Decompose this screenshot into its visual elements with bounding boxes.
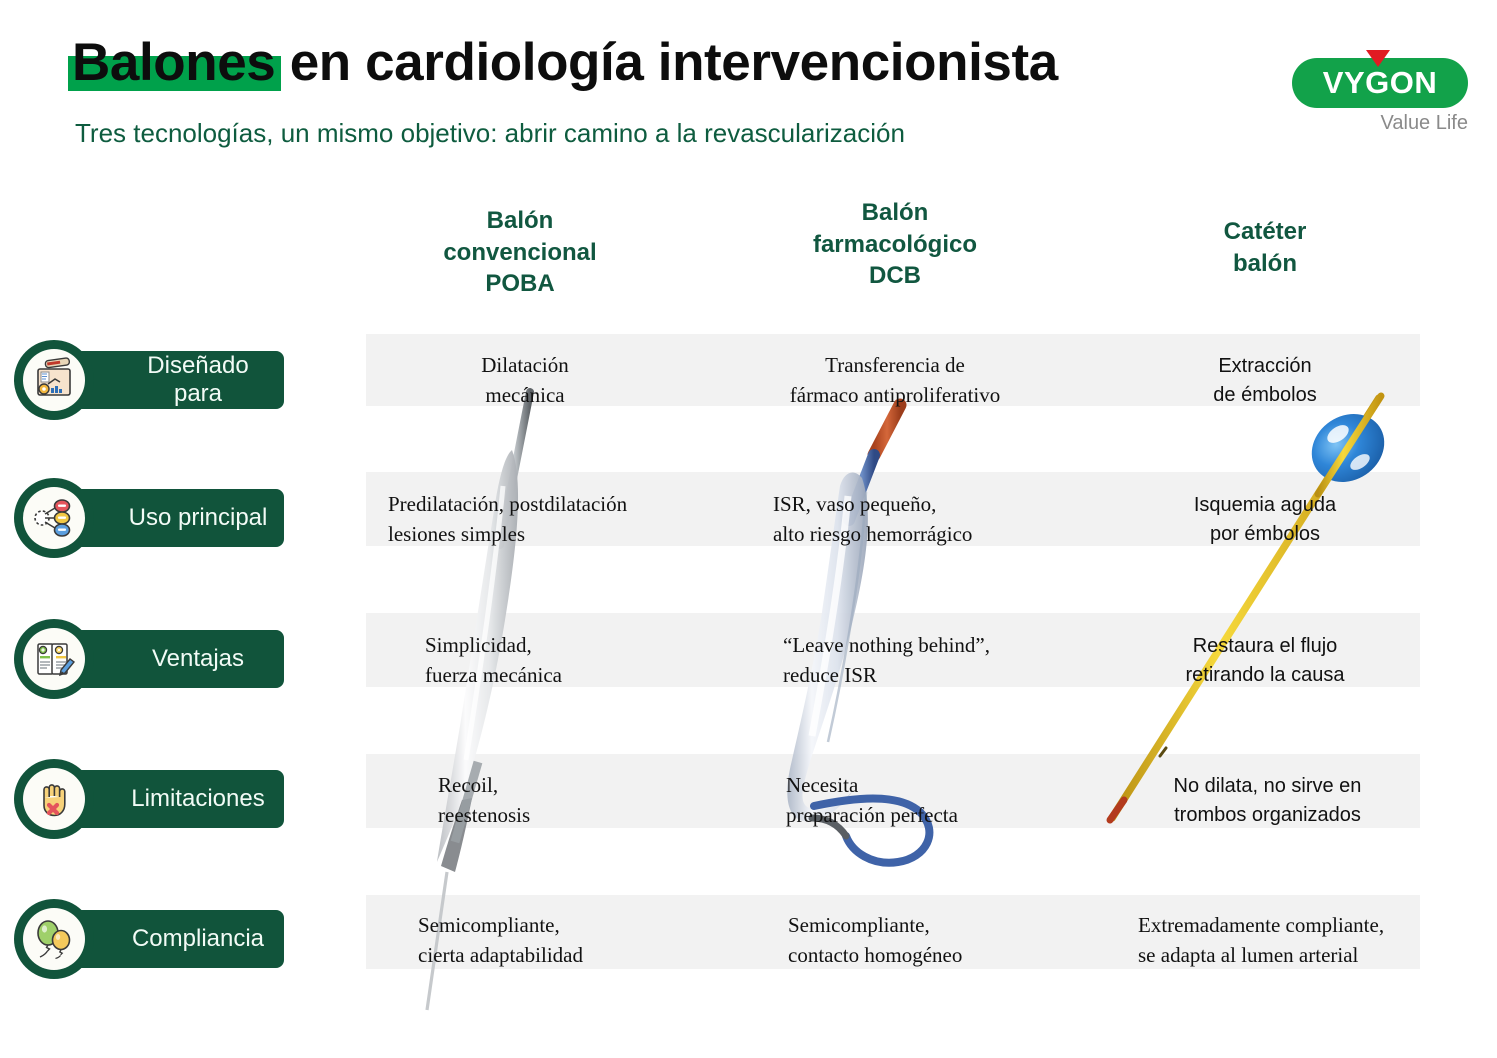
cell-line-2: trombos organizados bbox=[1125, 801, 1410, 830]
cell-line-1: Semicompliante, bbox=[788, 910, 1088, 940]
cell-line-1: Dilatación bbox=[400, 350, 650, 380]
cell-line-1: ISR, vaso pequeño, bbox=[773, 489, 1073, 519]
row-label-text: Limitaciones bbox=[122, 785, 274, 813]
checklist-pencil-icon bbox=[31, 636, 77, 682]
cell-line-2: preparación perfecta bbox=[786, 800, 1086, 830]
column-header-poba: Balón convencional POBA bbox=[400, 205, 640, 300]
balloons-icon bbox=[31, 916, 77, 962]
cell-line-2: por émbolos bbox=[1135, 520, 1395, 549]
cell-r4-c2: Extremadamente compliante, se adapta al … bbox=[1138, 910, 1428, 971]
row-icon-badge bbox=[14, 759, 94, 839]
row-label-text: Compliancia bbox=[122, 925, 274, 953]
cell-r1-c1: ISR, vaso pequeño, alto riesgo hemorrági… bbox=[773, 489, 1073, 550]
cell-r0-c0: Dilatación mecánica bbox=[400, 350, 650, 411]
row-label-ventajas[interactable]: Ventajas bbox=[36, 630, 284, 688]
row-icon-badge bbox=[14, 899, 94, 979]
cell-line-2: de émbolos bbox=[1135, 381, 1395, 410]
cell-r0-c1: Transferencia de fármaco antiproliferati… bbox=[745, 350, 1045, 411]
cell-line-2: cierta adaptabilidad bbox=[418, 940, 698, 970]
column-header-line2: convencional bbox=[400, 237, 640, 269]
logo-brand-text: VYGON bbox=[1292, 58, 1468, 108]
row-label-text: Ventajas bbox=[122, 645, 274, 673]
cell-r4-c1: Semicompliante, contacto homogéneo bbox=[788, 910, 1088, 971]
cell-line-2: reestenosis bbox=[438, 800, 688, 830]
cell-r3-c1: Necesita preparación perfecta bbox=[786, 770, 1086, 831]
row-label-disenado-para[interactable]: Diseñado para bbox=[36, 351, 284, 409]
column-header-line3: DCB bbox=[760, 260, 1030, 292]
cell-r0-c2: Extracción de émbolos bbox=[1135, 352, 1395, 410]
page-title: Balones en cardiología intervencionista bbox=[72, 34, 1058, 91]
cell-line-2: alto riesgo hemorrágico bbox=[773, 519, 1073, 549]
cell-r1-c0: Predilatación, postdilatación lesiones s… bbox=[388, 489, 678, 550]
cell-line-2: fármaco antiproliferativo bbox=[745, 380, 1045, 410]
cell-line-2: lesiones simples bbox=[388, 519, 678, 549]
row-label-limitaciones[interactable]: Limitaciones bbox=[36, 770, 284, 828]
infographic-page: Balones en cardiología intervencionista … bbox=[0, 0, 1497, 1058]
cell-line-1: Extremadamente compliante, bbox=[1138, 910, 1428, 940]
cell-r2-c1: “Leave nothing behind”, reduce ISR bbox=[783, 630, 1083, 691]
column-header-line2: balón bbox=[1140, 248, 1390, 280]
column-header-line3: POBA bbox=[400, 268, 640, 300]
cell-r3-c0: Recoil, reestenosis bbox=[438, 770, 688, 831]
cell-line-1: Transferencia de bbox=[745, 350, 1045, 380]
cell-line-1: Restaura el flujo bbox=[1135, 632, 1395, 661]
cell-line-2: se adapta al lumen arterial bbox=[1138, 940, 1428, 970]
cell-line-1: Extracción bbox=[1135, 352, 1395, 381]
cell-line-1: “Leave nothing behind”, bbox=[783, 630, 1083, 660]
cell-line-2: mecánica bbox=[400, 380, 650, 410]
cell-line-2: reduce ISR bbox=[783, 660, 1083, 690]
cell-line-1: Simplicidad, bbox=[425, 630, 675, 660]
row-icon-badge bbox=[14, 478, 94, 558]
logo-tagline: Value Life bbox=[1288, 112, 1468, 135]
cell-line-1: Semicompliante, bbox=[418, 910, 698, 940]
cell-line-2: retirando la causa bbox=[1135, 661, 1395, 690]
row-icon-badge bbox=[14, 340, 94, 420]
column-header-line1: Balón bbox=[760, 197, 1030, 229]
title-rest: en cardiología intervencionista bbox=[275, 33, 1057, 92]
vygon-logo: VYGON Value Life bbox=[1288, 44, 1473, 139]
cell-line-1: No dilata, no sirve en bbox=[1125, 772, 1410, 801]
cell-line-1: Predilatación, postdilatación bbox=[388, 489, 678, 519]
cell-line-2: contacto homogéneo bbox=[788, 940, 1088, 970]
cell-line-1: Necesita bbox=[786, 770, 1086, 800]
cell-line-2: fuerza mecánica bbox=[425, 660, 675, 690]
row-label-uso-principal[interactable]: Uso principal bbox=[36, 489, 284, 547]
column-header-line1: Catéter bbox=[1140, 216, 1390, 248]
page-subtitle: Tres tecnologías, un mismo objetivo: abr… bbox=[75, 118, 905, 149]
cell-r3-c2: No dilata, no sirve en trombos organizad… bbox=[1125, 772, 1410, 830]
cell-r2-c2: Restaura el flujo retirando la causa bbox=[1135, 632, 1395, 690]
column-header-cateter-balon: Catéter balón bbox=[1140, 216, 1390, 279]
network-nodes-icon bbox=[31, 495, 77, 541]
row-label-text: Uso principal bbox=[122, 504, 274, 532]
row-label-text: Diseñado para bbox=[122, 352, 274, 408]
cell-line-1: Isquemia aguda bbox=[1135, 491, 1395, 520]
stop-hand-icon bbox=[31, 776, 77, 822]
row-icon-badge bbox=[14, 619, 94, 699]
cell-line-1: Recoil, bbox=[438, 770, 688, 800]
column-header-dcb: Balón farmacológico DCB bbox=[760, 197, 1030, 292]
cell-r4-c0: Semicompliante, cierta adaptabilidad bbox=[418, 910, 698, 971]
column-header-line2: farmacológico bbox=[760, 229, 1030, 261]
title-highlight: Balones bbox=[72, 34, 275, 91]
column-header-line1: Balón bbox=[400, 205, 640, 237]
cell-r2-c0: Simplicidad, fuerza mecánica bbox=[425, 630, 675, 691]
row-label-compliancia[interactable]: Compliancia bbox=[36, 910, 284, 968]
cell-r1-c2: Isquemia aguda por émbolos bbox=[1135, 491, 1395, 549]
blueprint-design-icon bbox=[31, 357, 77, 403]
